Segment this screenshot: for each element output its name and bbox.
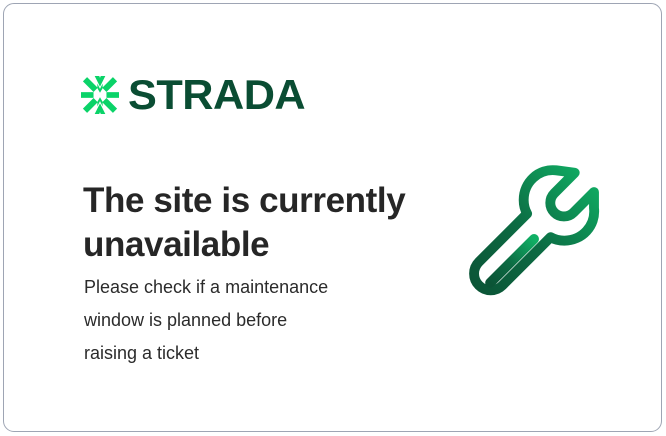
description-line: Please check if a maintenance	[84, 271, 394, 304]
strada-asterisk-icon	[81, 76, 119, 114]
brand-lockup: STRADA	[81, 72, 300, 118]
error-card: STRADA The site is currently unavailable…	[3, 3, 662, 432]
error-page: STRADA The site is currently unavailable…	[0, 0, 666, 436]
description-line: window is planned before	[84, 304, 394, 337]
brand-wordmark: STRADA	[128, 74, 305, 116]
description-line: raising a ticket	[84, 337, 394, 370]
page-title: The site is currently unavailable	[83, 179, 413, 267]
wrench-icon	[459, 156, 617, 314]
page-description: Please check if a maintenance window is …	[84, 271, 394, 370]
